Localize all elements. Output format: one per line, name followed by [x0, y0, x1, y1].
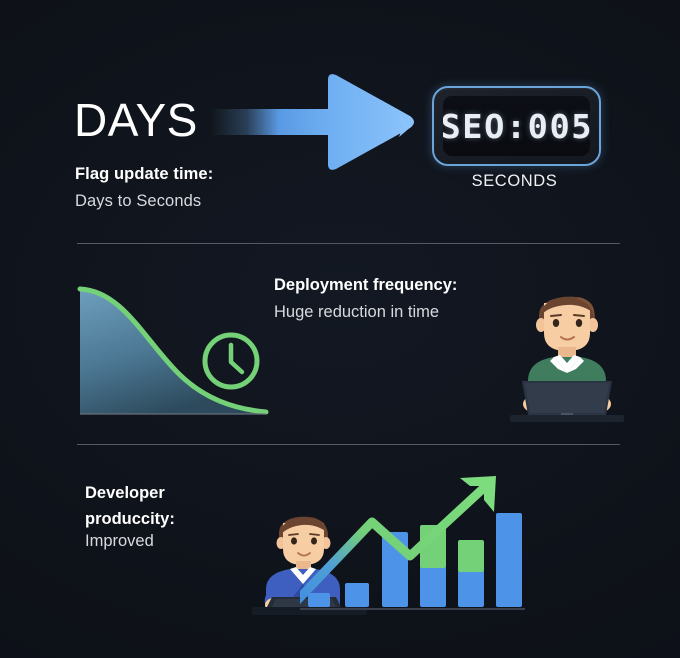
- flag-update-heading: Flag update time:: [75, 165, 213, 184]
- days-label: DAYS: [74, 97, 198, 143]
- digital-timer: SEO:005: [432, 86, 601, 166]
- section-flag-update-time: DAYS S: [0, 0, 680, 235]
- deployment-frequency-heading: Deployment frequency:: [274, 276, 457, 295]
- divider-two: [77, 444, 620, 445]
- right-arrow-icon: [210, 72, 415, 172]
- flag-update-subtext: Days to Seconds: [75, 192, 201, 211]
- clock-icon: [199, 329, 263, 393]
- person-at-monitor-green-shirt: [506, 277, 628, 422]
- developer-productivity-subtext: Improved: [85, 532, 154, 551]
- developer-productivity-heading: Developer produccity:: [85, 481, 245, 532]
- timer-screen: SEO:005: [443, 96, 590, 156]
- seconds-label: SECONDS: [432, 172, 597, 191]
- chevron-right-icon: [395, 112, 417, 140]
- deployment-frequency-subtext: Huge reduction in time: [274, 303, 439, 322]
- divider-one: [77, 243, 620, 244]
- infographic-canvas: DAYS S: [0, 0, 680, 658]
- growing-bar-chart: [300, 470, 525, 615]
- timer-digits: SEO:005: [443, 107, 590, 146]
